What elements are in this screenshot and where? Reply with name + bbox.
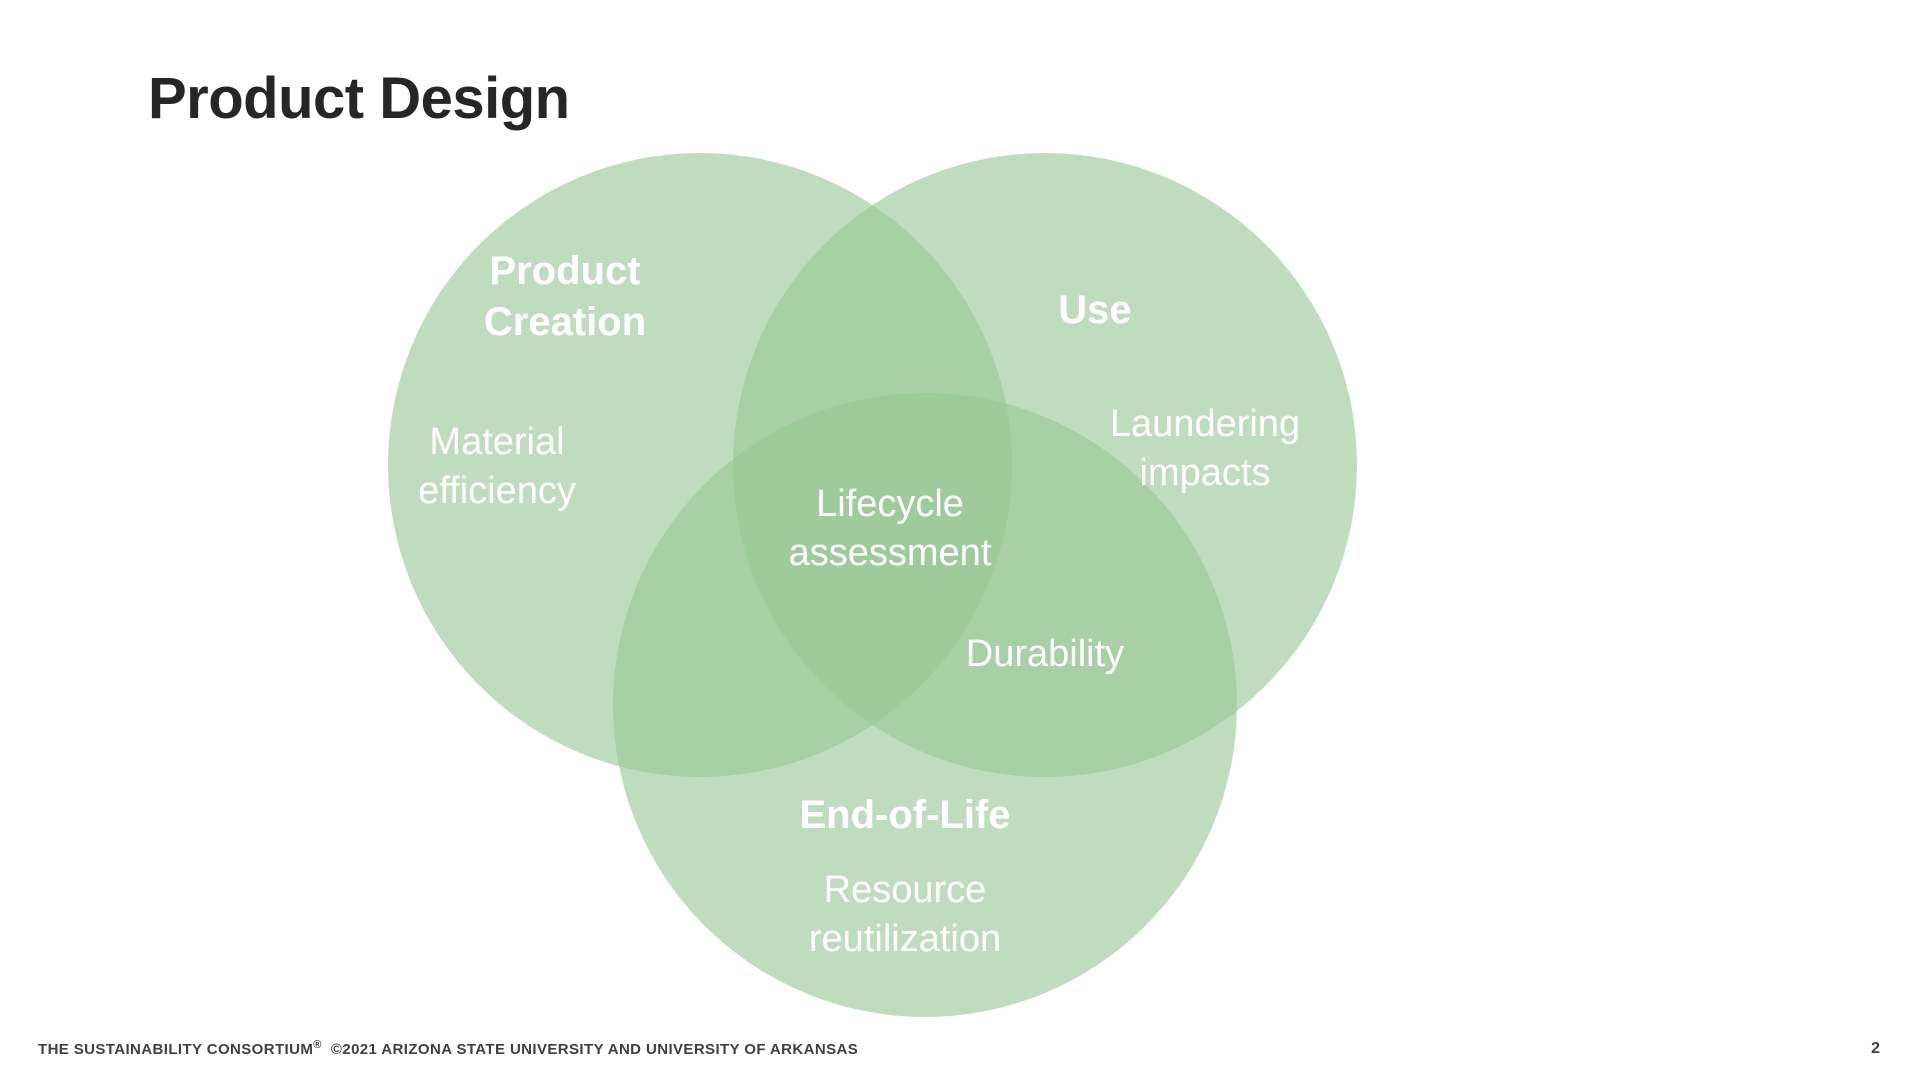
venn-diagram-svg (0, 0, 1920, 1080)
footer-copyright: THE SUSTAINABILITY CONSORTIUM® ©2021 ARI… (38, 1039, 858, 1058)
page-number: 2 (1871, 1040, 1880, 1058)
footer-organization: THE SUSTAINABILITY CONSORTIUM (38, 1041, 313, 1058)
venn-circle-end-of-life (613, 393, 1237, 1017)
registered-trademark-icon: ® (313, 1039, 322, 1051)
slide-canvas: Product Design Product Creation Material… (0, 0, 1920, 1080)
footer-copyright-text: ©2021 ARIZONA STATE UNIVERSITY AND UNIVE… (331, 1041, 858, 1058)
venn-diagram: Product Creation Material efficiency Use… (0, 0, 1920, 1080)
